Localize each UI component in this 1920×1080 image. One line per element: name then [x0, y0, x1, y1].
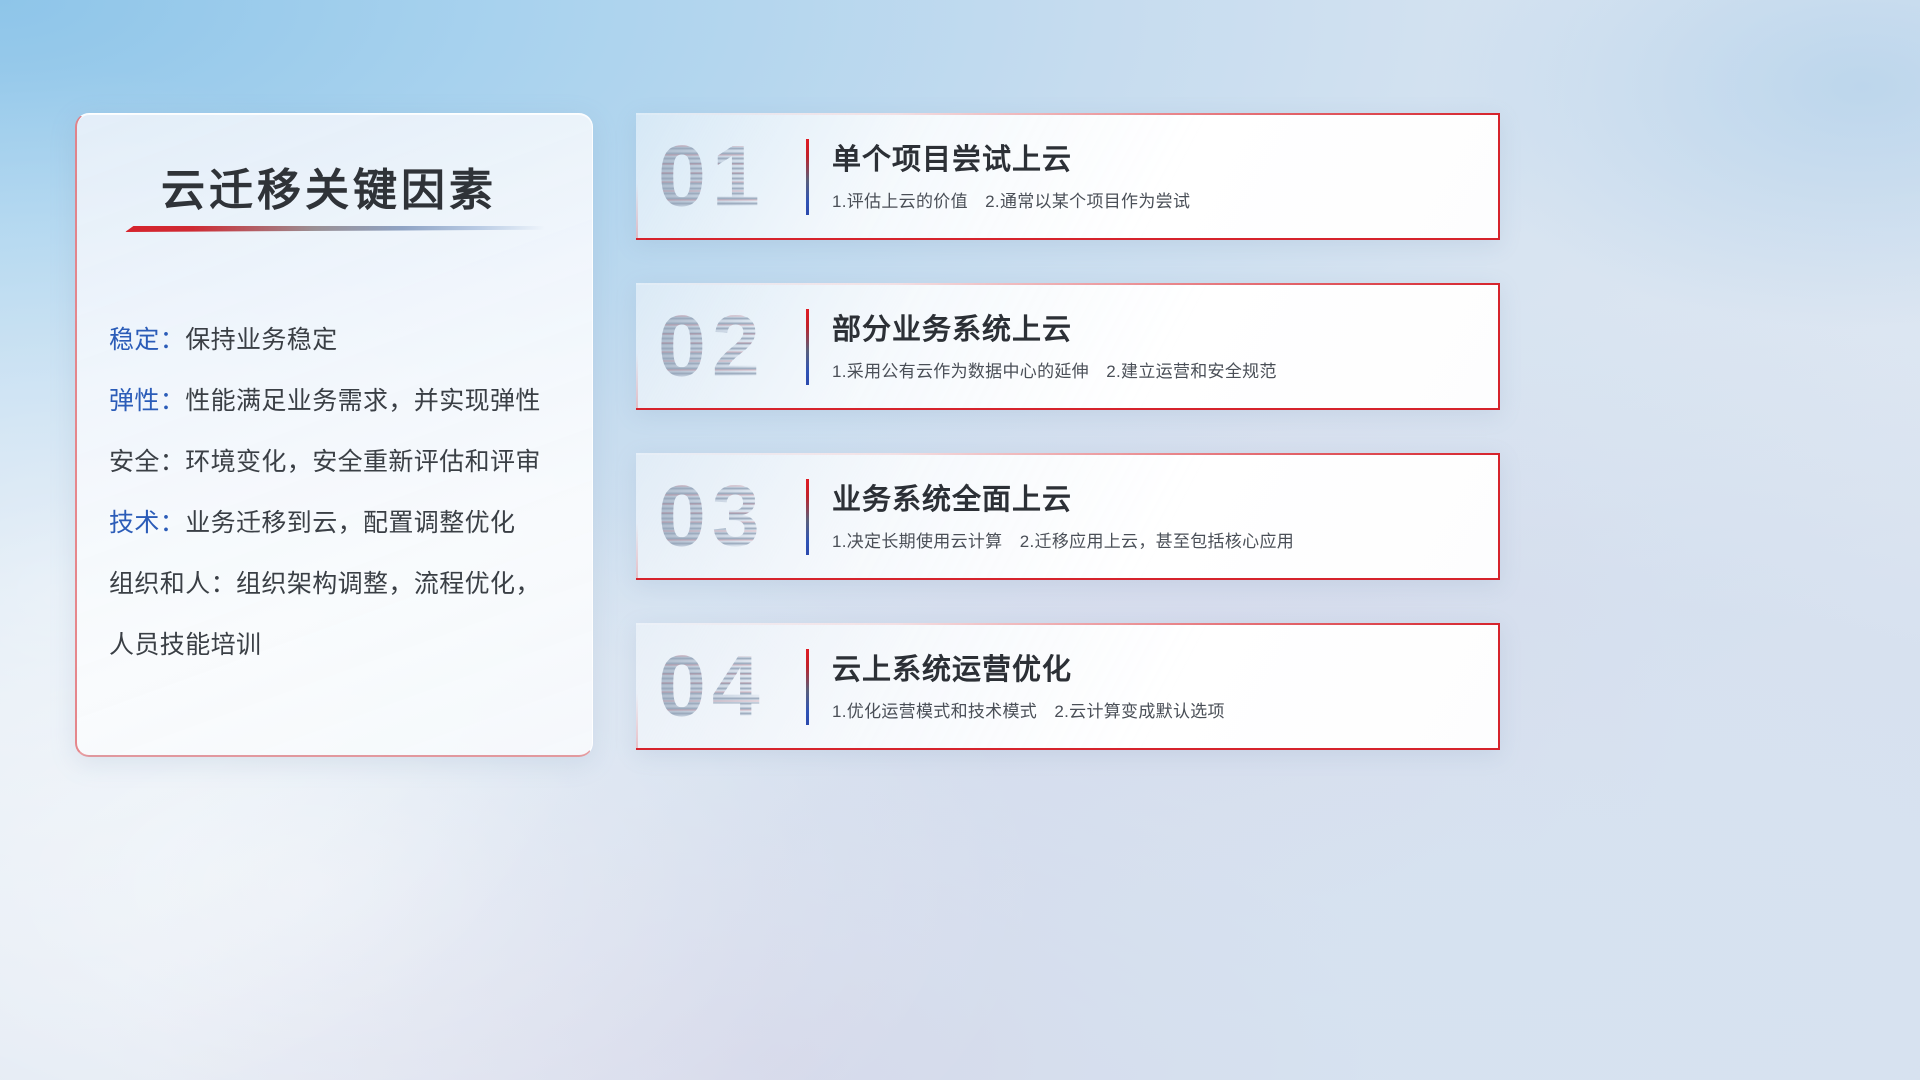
step-accent-bar	[806, 139, 809, 215]
step-card[interactable]: 0303业务系统全面上云1.决定长期使用云计算 2.迁移应用上云，甚至包括核心应…	[636, 453, 1500, 580]
step-text-block: 业务系统全面上云1.决定长期使用云计算 2.迁移应用上云，甚至包括核心应用	[832, 481, 1294, 551]
step-text-block: 单个项目尝试上云1.评估上云的价值 2.通常以某个项目作为尝试	[832, 141, 1190, 211]
step-subtitle: 1.评估上云的价值 2.通常以某个项目作为尝试	[832, 187, 1190, 212]
step-number: 01	[658, 127, 766, 226]
step-number: 02	[658, 297, 766, 396]
factor-row: 稳定：保持业务稳定	[109, 310, 579, 371]
factor-text: 业务迁移到云，配置调整优化	[185, 509, 515, 537]
factor-row: 弹性：性能满足业务需求，并实现弹性	[109, 371, 579, 432]
factor-text: 组织架构调整，流程优化，	[236, 570, 541, 598]
key-factors-panel: 云迁移关键因素 稳定：保持业务稳定弹性：性能满足业务需求，并实现弹性安全：环境变…	[75, 113, 593, 757]
step-subtitle: 1.采用公有云作为数据中心的延伸 2.建立运营和安全规范	[832, 357, 1277, 382]
factor-label: 弹性：	[109, 387, 185, 415]
step-subtitle: 1.优化运营模式和技术模式 2.云计算变成默认选项	[832, 697, 1225, 722]
factor-label: 组织和人：	[109, 570, 236, 598]
step-text-block: 部分业务系统上云1.采用公有云作为数据中心的延伸 2.建立运营和安全规范	[832, 311, 1277, 381]
factor-row: 人员技能培训	[109, 615, 579, 676]
factor-text: 环境变化，安全重新评估和评审	[185, 448, 541, 476]
factor-label: 技术：	[109, 509, 185, 537]
step-card[interactable]: 0202部分业务系统上云1.采用公有云作为数据中心的延伸 2.建立运营和安全规范	[636, 283, 1500, 410]
step-title: 单个项目尝试上云	[832, 141, 1190, 177]
factor-list: 稳定：保持业务稳定弹性：性能满足业务需求，并实现弹性安全：环境变化，安全重新评估…	[109, 310, 579, 676]
factor-row: 组织和人：组织架构调整，流程优化，	[109, 554, 579, 615]
panel-title: 云迁移关键因素	[161, 154, 497, 218]
step-title: 业务系统全面上云	[832, 481, 1294, 517]
step-accent-bar	[806, 649, 809, 725]
step-subtitle: 1.决定长期使用云计算 2.迁移应用上云，甚至包括核心应用	[832, 527, 1294, 552]
step-title: 云上系统运营优化	[832, 651, 1225, 687]
step-card[interactable]: 0101单个项目尝试上云1.评估上云的价值 2.通常以某个项目作为尝试	[636, 113, 1500, 240]
migration-steps-list: 0101单个项目尝试上云1.评估上云的价值 2.通常以某个项目作为尝试0202部…	[636, 113, 1500, 793]
step-text-block: 云上系统运营优化1.优化运营模式和技术模式 2.云计算变成默认选项	[832, 651, 1225, 721]
factor-text: 保持业务稳定	[185, 326, 337, 354]
factor-row: 安全：环境变化，安全重新评估和评审	[109, 432, 579, 493]
step-title: 部分业务系统上云	[832, 311, 1277, 347]
factor-label: 安全：	[109, 448, 185, 476]
factor-text: 人员技能培训	[109, 631, 261, 659]
step-number: 03	[658, 467, 766, 566]
step-accent-bar	[806, 309, 809, 385]
factor-label: 稳定：	[109, 326, 185, 354]
step-accent-bar	[806, 479, 809, 555]
factor-row: 技术：业务迁移到云，配置调整优化	[109, 493, 579, 554]
step-card[interactable]: 0404云上系统运营优化1.优化运营模式和技术模式 2.云计算变成默认选项	[636, 623, 1500, 750]
step-number: 04	[658, 637, 766, 736]
factor-text: 性能满足业务需求，并实现弹性	[185, 387, 541, 415]
title-underline-accent	[125, 226, 545, 232]
